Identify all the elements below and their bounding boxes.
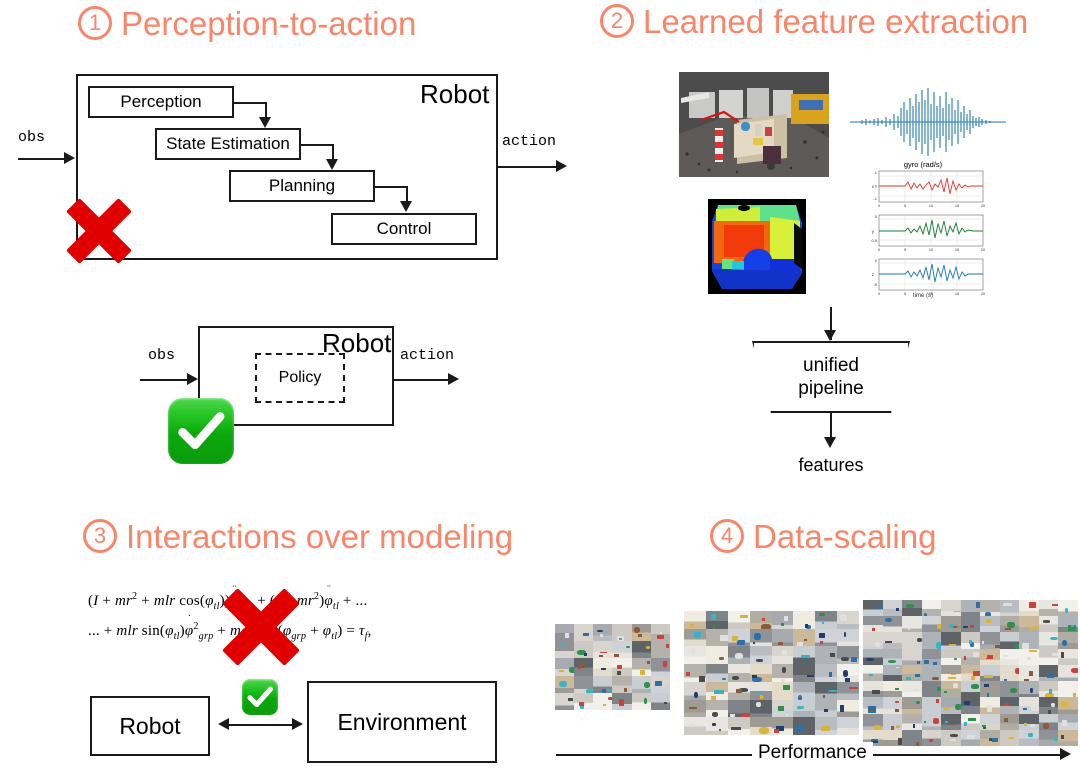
svg-text:0: 0 <box>875 184 878 189</box>
dataset-tile <box>1000 649 1020 665</box>
dataset-tile <box>1058 730 1078 746</box>
dataset-tile <box>750 646 772 664</box>
dataset-tile <box>863 632 883 648</box>
dataset-grid-large <box>863 600 1078 746</box>
dataset-tile <box>1019 616 1039 632</box>
panel-title: Interactions over modeling <box>126 520 513 553</box>
panel-1-heading: 1 Perception-to-action <box>78 6 416 40</box>
environment-box[interactable]: Environment <box>307 681 497 763</box>
interaction-arrow-line <box>223 724 297 726</box>
dataset-tile <box>922 600 942 616</box>
dataset-tile <box>1000 730 1020 746</box>
dataset-tile <box>922 649 942 665</box>
svg-text:10: 10 <box>929 248 933 252</box>
dataset-tile <box>1058 681 1078 697</box>
dataset-tile <box>1000 697 1020 713</box>
dataset-tile <box>793 700 815 718</box>
performance-axis-arrowhead <box>1060 748 1071 760</box>
pipeline-input-arrowhead <box>824 330 836 341</box>
policy-label: Policy <box>279 369 322 387</box>
dataset-tile <box>941 714 961 730</box>
dataset-tile <box>793 611 815 629</box>
dataset-tile <box>1058 697 1078 713</box>
dataset-tile <box>632 676 651 693</box>
dataset-tile <box>574 676 593 693</box>
dataset-tile <box>728 664 750 682</box>
dataset-tile <box>772 664 794 682</box>
dataset-tile <box>837 629 859 647</box>
dataset-tile <box>706 717 728 735</box>
dataset-tile <box>728 611 750 629</box>
dataset-tile <box>863 665 883 681</box>
dataset-tile <box>941 665 961 681</box>
audio-waveform-plot <box>848 86 1008 158</box>
svg-text:15: 15 <box>955 204 959 208</box>
stage-label: Control <box>377 219 432 239</box>
dataset-tile <box>883 632 903 648</box>
dataset-tile <box>902 600 922 616</box>
pointcloud-image <box>679 72 829 177</box>
panel-3-heading: 3 Interactions over modeling <box>83 519 513 553</box>
svg-text:0.5: 0.5 <box>871 238 877 243</box>
dataset-tile <box>772 717 794 735</box>
dataset-tile <box>772 646 794 664</box>
svg-text:20: 20 <box>981 248 985 252</box>
dataset-tile <box>750 717 772 735</box>
svg-text:0: 0 <box>878 248 880 252</box>
dataset-tile <box>1039 665 1059 681</box>
dataset-tile <box>980 616 1000 632</box>
dataset-tile <box>883 681 903 697</box>
dataset-tile <box>837 646 859 664</box>
dataset-tile <box>706 646 728 664</box>
green-check-icon <box>242 679 278 715</box>
learned-obs-arrowhead <box>187 373 198 385</box>
dataset-tile <box>1039 681 1059 697</box>
dataset-tile <box>793 664 815 682</box>
dataset-tile <box>1058 600 1078 616</box>
dataset-tile <box>651 693 670 710</box>
stage-box-planning[interactable]: Planning <box>229 170 375 202</box>
interaction-arrowhead-left <box>218 718 229 730</box>
classical-obs-arrow-line <box>18 158 68 160</box>
stage-label: State Estimation <box>166 134 290 154</box>
dataset-tile <box>980 714 1000 730</box>
dataset-tile <box>574 693 593 710</box>
dataset-tile <box>612 676 631 693</box>
dataset-tile <box>750 629 772 647</box>
dataset-tile <box>593 624 612 641</box>
dataset-tile <box>961 600 981 616</box>
dataset-tile <box>883 616 903 632</box>
panel-number-badge: 1 <box>78 6 112 40</box>
svg-text:5: 5 <box>904 248 906 252</box>
dataset-tile <box>1039 600 1059 616</box>
dataset-tile <box>612 693 631 710</box>
pipeline-label-line1: unified <box>803 354 859 377</box>
dataset-tile <box>1019 665 1039 681</box>
green-check-icon <box>168 398 234 464</box>
dataset-tile <box>902 665 922 681</box>
dataset-tile <box>1000 600 1020 616</box>
dataset-tile <box>651 624 670 641</box>
dataset-tile <box>961 632 981 648</box>
dataset-tile <box>883 714 903 730</box>
dataset-tile <box>961 730 981 746</box>
dataset-tile <box>815 646 837 664</box>
panel-number-badge: 4 <box>710 519 744 553</box>
svg-text:0: 0 <box>875 214 878 219</box>
dataset-tile <box>772 682 794 700</box>
dataset-tile <box>980 632 1000 648</box>
dataset-tile <box>961 681 981 697</box>
dataset-tile <box>750 611 772 629</box>
dataset-tile <box>1019 714 1039 730</box>
stage-box-control[interactable]: Control <box>331 213 477 245</box>
dataset-tile <box>706 700 728 718</box>
classical-action-arrowhead <box>556 160 567 172</box>
svg-text:15: 15 <box>955 248 959 252</box>
policy-box[interactable]: Policy <box>255 353 345 403</box>
dataset-tile <box>922 730 942 746</box>
connector-perception-se-arrow <box>259 117 271 128</box>
classical-action-label: action <box>502 133 556 150</box>
dataset-tile <box>961 714 981 730</box>
dataset-tile <box>593 641 612 658</box>
dataset-tile <box>728 646 750 664</box>
dataset-tile <box>961 665 981 681</box>
connector-se-planning-h <box>301 144 333 146</box>
panel-number-badge: 2 <box>600 4 634 38</box>
dataset-tile <box>883 649 903 665</box>
svg-text:y: y <box>872 229 875 234</box>
dataset-tile <box>728 717 750 735</box>
dataset-tile <box>980 600 1000 616</box>
dataset-tile <box>793 717 815 735</box>
dataset-tile <box>574 624 593 641</box>
dataset-tile <box>922 714 942 730</box>
dataset-tile <box>941 632 961 648</box>
dataset-tile <box>1019 649 1039 665</box>
interaction-arrowhead-right <box>292 718 303 730</box>
dataset-tile <box>750 682 772 700</box>
dataset-tile <box>1000 681 1020 697</box>
stage-label: Planning <box>269 176 335 196</box>
dataset-tile <box>1039 714 1059 730</box>
gyro-plot-xlabel: time (s) <box>855 293 991 299</box>
pipeline-output-arrowhead <box>824 437 836 448</box>
dataset-tile <box>706 629 728 647</box>
red-x-icon <box>213 586 309 668</box>
dataset-tile <box>941 697 961 713</box>
svg-text:20: 20 <box>981 204 985 208</box>
dataset-tile <box>941 616 961 632</box>
dataset-tile <box>883 730 903 746</box>
dataset-tile <box>1058 665 1078 681</box>
panel-title: Data-scaling <box>753 520 936 553</box>
robot-box[interactable]: Robot <box>90 696 210 756</box>
dataset-tile <box>555 641 574 658</box>
connector-planning-control-h <box>375 186 407 188</box>
dataset-tile <box>750 664 772 682</box>
dataset-tile <box>574 641 593 658</box>
dataset-tile <box>706 611 728 629</box>
dataset-tile <box>728 682 750 700</box>
dataset-tile <box>863 681 883 697</box>
dataset-tile <box>632 693 651 710</box>
dataset-tile <box>922 616 942 632</box>
dataset-tile <box>922 632 942 648</box>
dataset-tile <box>632 658 651 675</box>
dataset-tile <box>863 616 883 632</box>
unified-pipeline-box[interactable]: unified pipeline <box>752 341 910 413</box>
red-x-icon <box>58 190 140 272</box>
svg-text:-5: -5 <box>873 282 877 287</box>
dataset-tile <box>980 649 1000 665</box>
dataset-tile <box>1019 632 1039 648</box>
dataset-tile <box>837 664 859 682</box>
connector-planning-control-arrow <box>400 201 412 212</box>
dataset-tile <box>728 629 750 647</box>
dataset-tile <box>902 714 922 730</box>
gyro-plot-title: gyro (rad/s) <box>855 160 991 169</box>
dataset-tile <box>837 682 859 700</box>
dataset-tile <box>793 682 815 700</box>
dataset-tile <box>1019 681 1039 697</box>
dataset-tile <box>815 664 837 682</box>
svg-text:10: 10 <box>929 204 933 208</box>
dataset-tile <box>684 664 706 682</box>
connector-perception-se-h <box>234 102 266 104</box>
dataset-tile <box>593 693 612 710</box>
classical-obs-label: obs <box>18 129 45 146</box>
depth-image <box>708 199 806 294</box>
dataset-tile <box>632 641 651 658</box>
dataset-tile <box>1039 632 1059 648</box>
learned-action-arrow-line <box>394 379 450 381</box>
panel-4-heading: 4 Data-scaling <box>710 519 936 553</box>
dataset-tile <box>815 611 837 629</box>
stage-label: Perception <box>120 92 201 112</box>
dataset-tile <box>815 717 837 735</box>
dataset-tile <box>706 664 728 682</box>
dataset-tile <box>815 682 837 700</box>
classical-obs-arrowhead <box>64 152 75 164</box>
dataset-tile <box>772 629 794 647</box>
dataset-tile <box>922 665 942 681</box>
dataset-tile <box>684 700 706 718</box>
svg-text:1: 1 <box>875 170 878 175</box>
panel-title: Perception-to-action <box>121 7 416 40</box>
dataset-tile <box>1000 714 1020 730</box>
dataset-tile <box>815 629 837 647</box>
dataset-tile <box>941 681 961 697</box>
learned-obs-label: obs <box>148 347 175 364</box>
dataset-tile <box>922 681 942 697</box>
stage-box-perception[interactable]: Perception <box>88 86 234 118</box>
dataset-tile <box>1019 730 1039 746</box>
dataset-tile <box>684 629 706 647</box>
learned-obs-arrow-line <box>140 379 190 381</box>
svg-text:0: 0 <box>875 258 878 263</box>
dataset-tile <box>883 665 903 681</box>
dataset-grid-small <box>555 624 670 710</box>
classical-robot-label: Robot <box>420 79 489 110</box>
svg-text:z: z <box>872 272 874 277</box>
dataset-tile <box>593 676 612 693</box>
dataset-tile <box>772 611 794 629</box>
dataset-tile <box>555 676 574 693</box>
dataset-tile <box>902 681 922 697</box>
connector-se-planning-arrow <box>326 159 338 170</box>
dataset-grid-medium <box>684 611 859 735</box>
dataset-tile <box>902 649 922 665</box>
dataset-tile <box>863 697 883 713</box>
dataset-tile <box>883 600 903 616</box>
dataset-tile <box>728 700 750 718</box>
dataset-tile <box>980 697 1000 713</box>
dataset-tile <box>684 611 706 629</box>
dataset-tile <box>750 700 772 718</box>
dataset-tile <box>793 646 815 664</box>
dataset-tile <box>837 717 859 735</box>
dataset-tile <box>1058 714 1078 730</box>
dataset-tile <box>1019 600 1039 616</box>
dataset-tile <box>863 649 883 665</box>
svg-text:5: 5 <box>904 204 906 208</box>
learned-action-label: action <box>400 347 454 364</box>
dataset-tile <box>941 649 961 665</box>
panel-2-heading: 2 Learned feature extraction <box>600 4 1028 38</box>
dataset-tile <box>902 730 922 746</box>
dataset-tile <box>922 697 942 713</box>
dataset-tile <box>651 641 670 658</box>
dataset-tile <box>651 658 670 675</box>
dataset-tile <box>593 658 612 675</box>
dataset-tile <box>632 624 651 641</box>
dataset-tile <box>941 600 961 616</box>
features-label: features <box>793 455 869 476</box>
performance-axis-label: Performance <box>752 742 873 764</box>
dataset-tile <box>961 649 981 665</box>
dataset-tile <box>1000 632 1020 648</box>
dataset-tile <box>1039 730 1059 746</box>
dataset-tile <box>837 700 859 718</box>
pipeline-label-line2: pipeline <box>798 377 864 400</box>
panel-title: Learned feature extraction <box>643 5 1028 38</box>
dataset-tile <box>555 693 574 710</box>
dataset-tile <box>793 629 815 647</box>
gyro-plot: gyro (rad/s) x 1 0 -1 05101520 <box>855 160 991 302</box>
dataset-tile <box>902 632 922 648</box>
dataset-tile <box>1000 616 1020 632</box>
dataset-tile <box>612 624 631 641</box>
dataset-tile <box>902 616 922 632</box>
dataset-tile <box>883 697 903 713</box>
dataset-tile <box>902 697 922 713</box>
classical-action-arrow-line <box>498 166 558 168</box>
dataset-tile <box>961 697 981 713</box>
dataset-tile <box>612 658 631 675</box>
dataset-tile <box>684 717 706 735</box>
dataset-tile <box>684 682 706 700</box>
panel-number-badge: 3 <box>83 519 117 553</box>
dataset-tile <box>815 700 837 718</box>
svg-text:0: 0 <box>878 204 880 208</box>
dataset-tile <box>961 616 981 632</box>
dataset-tile <box>863 714 883 730</box>
dataset-tile <box>980 730 1000 746</box>
dataset-tile <box>706 682 728 700</box>
dataset-tile <box>1058 649 1078 665</box>
dataset-tile <box>1058 632 1078 648</box>
dataset-tile <box>612 641 631 658</box>
dataset-tile <box>941 730 961 746</box>
dataset-tile <box>555 658 574 675</box>
dataset-tile <box>980 681 1000 697</box>
dataset-tile <box>772 700 794 718</box>
dataset-tile <box>651 676 670 693</box>
dataset-tile <box>684 646 706 664</box>
environment-label: Environment <box>337 709 466 736</box>
stage-box-state-estimation[interactable]: State Estimation <box>155 128 301 160</box>
dataset-tile <box>1019 697 1039 713</box>
learned-action-arrowhead <box>448 373 459 385</box>
dataset-tile <box>1039 649 1059 665</box>
dataset-tile <box>1039 697 1059 713</box>
dataset-tile <box>555 624 574 641</box>
dataset-tile <box>863 600 883 616</box>
dataset-tile <box>837 611 859 629</box>
dataset-tile <box>1000 665 1020 681</box>
dataset-tile <box>980 665 1000 681</box>
robot-label: Robot <box>119 713 180 740</box>
dataset-tile <box>1039 616 1059 632</box>
svg-text:-1: -1 <box>873 196 877 201</box>
dataset-tile <box>574 658 593 675</box>
dataset-tile <box>1058 616 1078 632</box>
